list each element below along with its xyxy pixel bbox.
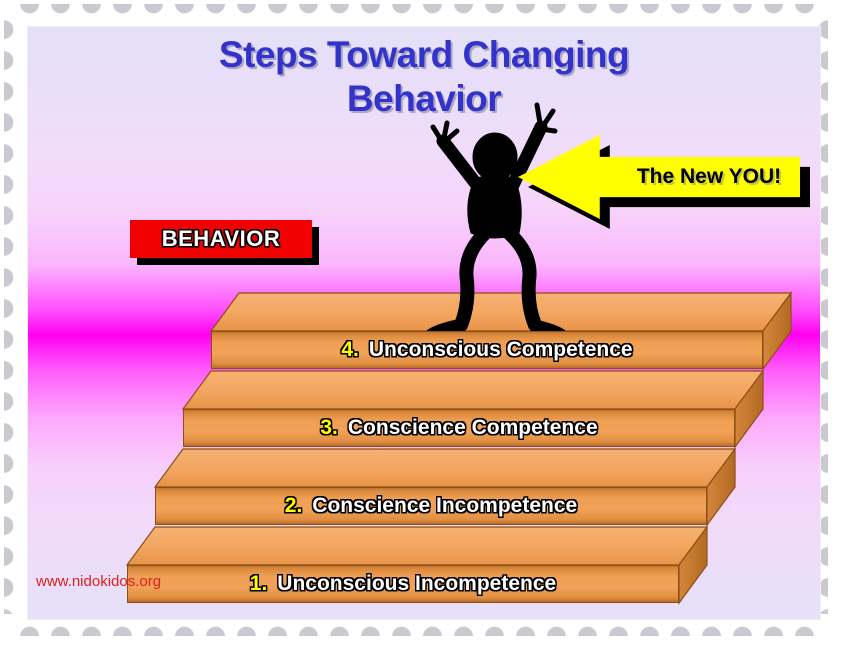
step-1-number: 1. [250, 572, 268, 595]
step-2-number: 2. [285, 494, 303, 517]
stamp-perforation-top [14, 4, 822, 26]
step-2-text: 2.Conscience Incompetence [285, 494, 577, 518]
step-3-label: Conscience Competence [348, 416, 598, 439]
step-4-number: 4. [341, 338, 359, 361]
step-4-face: 4.Unconscious Competence [211, 331, 763, 369]
step-4-text: 4.Unconscious Competence [341, 338, 632, 362]
step-1-face: 1.Unconscious Incompetence [127, 565, 679, 603]
stamp-perforation-left [4, 14, 26, 614]
artwork-panel: Steps Toward Changing Behavior [28, 27, 820, 619]
step-3-number: 3. [320, 416, 338, 439]
step-3-face: 3.Conscience Competence [183, 409, 735, 447]
new-you-callout-arrow[interactable]: The New YOU! [518, 135, 820, 239]
step-4-label: Unconscious Competence [369, 338, 633, 361]
step-1-text: 1.Unconscious Incompetence [250, 572, 556, 596]
step-2-label: Conscience Incompetence [312, 494, 577, 517]
watermark-url: www.nidokidos.org [36, 573, 161, 590]
step-2-face: 2.Conscience Incompetence [155, 487, 707, 525]
step-1-label: Unconscious Incompetence [277, 572, 556, 595]
arrow-label: The New YOU! [614, 157, 804, 197]
behavior-badge-label: BEHAVIOR [162, 226, 281, 252]
behavior-badge-box: BEHAVIOR [130, 220, 312, 258]
step-3-text: 3.Conscience Competence [320, 416, 597, 440]
poster-canvas: Steps Toward Changing Behavior [0, 0, 850, 648]
